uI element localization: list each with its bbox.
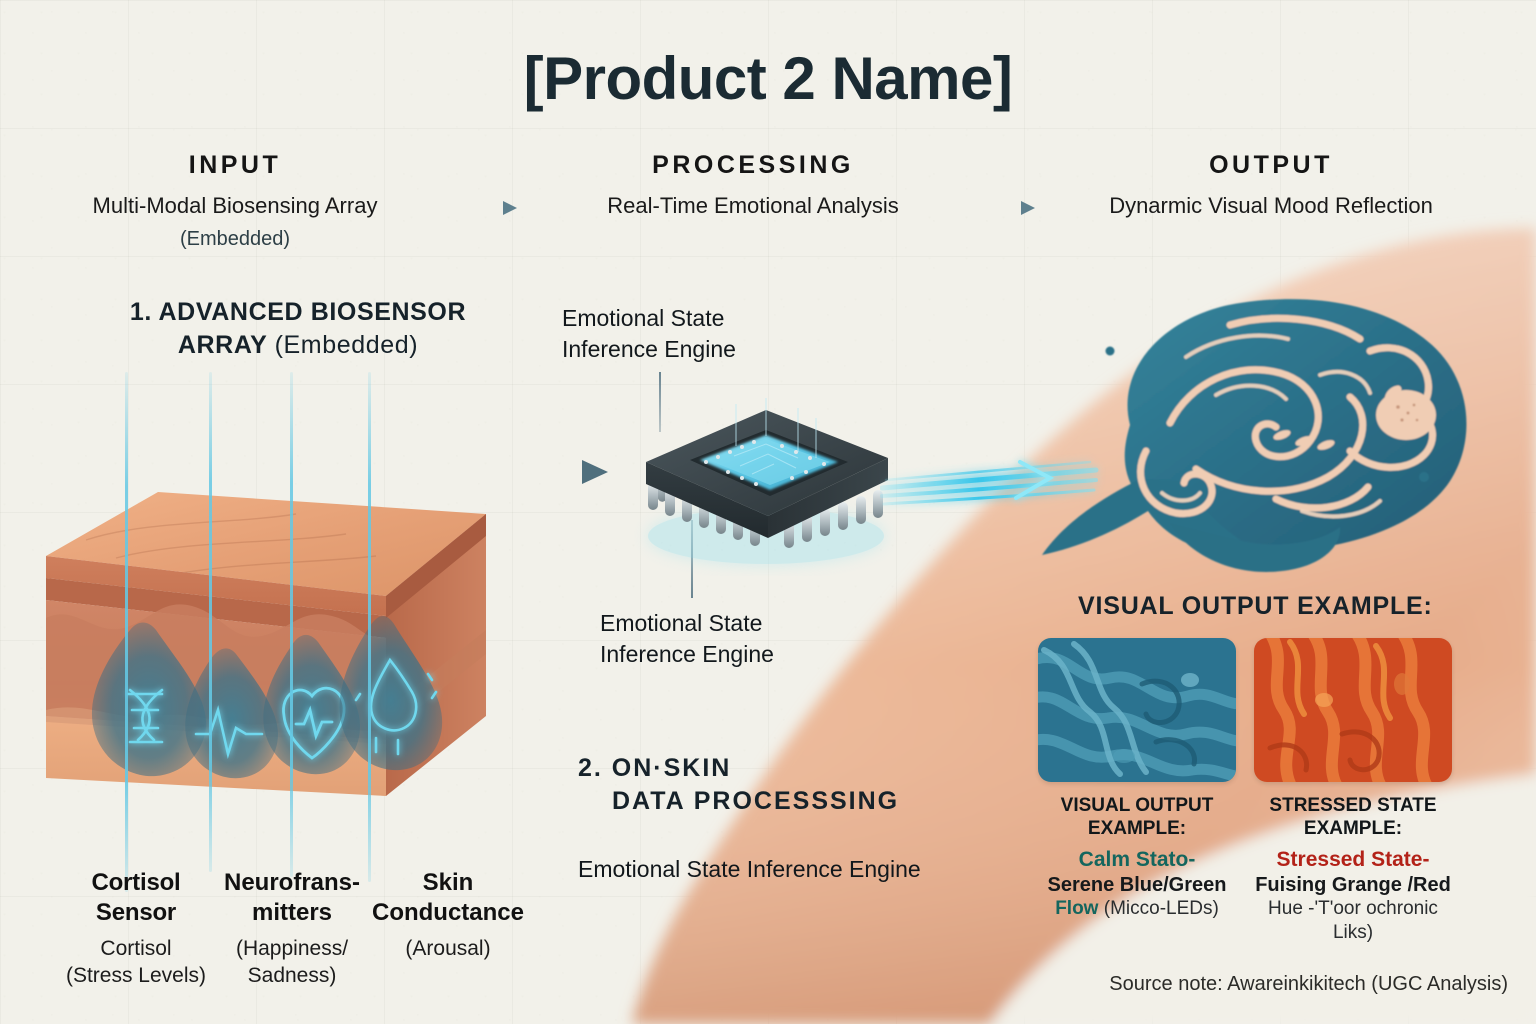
callout-inference-engine-bottom: Emotional State Inference Engine bbox=[600, 608, 774, 669]
stage-input-sub: (Embedded) bbox=[0, 226, 470, 253]
cortisol-name-line2: Sensor bbox=[96, 899, 176, 926]
stressed-cap-head-line2: EXAMPLE: bbox=[1304, 818, 1402, 839]
page-title: [Product 2 Name] bbox=[0, 44, 1536, 113]
swatch-calm: VISUAL OUTPUT EXAMPLE: Calm Stato- Seren… bbox=[1038, 638, 1236, 944]
processing-caption: Emotional State Inference Engine bbox=[578, 856, 921, 883]
neuro-desc-line1: (Happiness/ bbox=[236, 937, 348, 960]
infographic-canvas: [Product 2 Name] INPUT Multi-Modal Biose… bbox=[0, 0, 1536, 1024]
stressed-desc-label: Fuising Grange /Red bbox=[1254, 873, 1452, 897]
biosensor-heading-embedded: (Embedded) bbox=[275, 331, 419, 359]
calm-swatch-caption: VISUAL OUTPUT EXAMPLE: Calm Stato- Seren… bbox=[1038, 794, 1236, 921]
neuro-name-line2: mitters bbox=[252, 899, 332, 926]
sensor-probe-wire-2 bbox=[209, 372, 212, 872]
stage-input: INPUT Multi-Modal Biosensing Array (Embe… bbox=[0, 148, 470, 253]
calm-desc-label: Serene Blue/Green bbox=[1038, 873, 1236, 897]
sensor-label-cortisol: Cortisol Sensor Cortisol (Stress Levels) bbox=[58, 868, 214, 989]
flow-arrow-input-to-processing bbox=[462, 452, 612, 492]
biosensor-array-heading: 1. ADVANCED BIOSENSOR ARRAY (Embedded) bbox=[98, 296, 498, 362]
calm-cap-head-line1: VISUAL OUTPUT bbox=[1061, 795, 1214, 816]
calm-note: (Micco-LEDs) bbox=[1098, 898, 1218, 919]
callout-top-line2: Inference Engine bbox=[562, 336, 736, 362]
sensor-label-neurotransmitters: Neurofrans- mitters (Happiness/ Sadness) bbox=[214, 868, 370, 989]
stressed-state-label: Stressed State- bbox=[1254, 847, 1452, 873]
skin-desc-line1: (Arousal) bbox=[405, 937, 490, 960]
stage-processing-desc: Real-Time Emotional Analysis bbox=[518, 191, 988, 221]
sensor-label-row: Cortisol Sensor Cortisol (Stress Levels)… bbox=[58, 868, 526, 989]
cortisol-name-line1: Cortisol bbox=[91, 869, 180, 896]
arrow-right-icon bbox=[988, 196, 1036, 220]
stage-processing: PROCESSING Real-Time Emotional Analysis bbox=[518, 148, 988, 226]
processing-heading-line2: DATA PROCESSSING bbox=[578, 785, 978, 818]
calm-cap-head-line2: EXAMPLE: bbox=[1088, 818, 1186, 839]
callout-bottom-line2: Inference Engine bbox=[600, 641, 774, 667]
biosensor-heading-line1: 1. ADVANCED BIOSENSOR bbox=[130, 298, 466, 326]
calm-note-bold: Flow bbox=[1055, 898, 1098, 919]
callout-bottom-line1: Emotional State bbox=[600, 610, 762, 636]
calm-wave-swatch-icon bbox=[1038, 638, 1236, 782]
skin-cross-section-icon bbox=[46, 478, 486, 808]
stage-arrow-2 bbox=[988, 196, 1036, 220]
cortisol-desc-line2: (Stress Levels) bbox=[66, 964, 206, 987]
data-beam-arrow-icon bbox=[880, 448, 1130, 528]
neuro-desc-line2: Sadness) bbox=[248, 964, 337, 987]
stage-output: OUTPUT Dynarmic Visual Mood Reflection bbox=[1036, 148, 1506, 226]
stressed-note: Hue -'T'oor ochronic Liks) bbox=[1254, 897, 1452, 943]
stressed-swatch-caption: STRESSED STATE EXAMPLE: Stressed State- … bbox=[1254, 794, 1452, 944]
neuro-name-line1: Neurofrans- bbox=[224, 869, 360, 896]
stage-output-desc: Dynarmic Visual Mood Reflection bbox=[1036, 191, 1506, 221]
stressed-wave-swatch-icon bbox=[1254, 638, 1452, 782]
processing-heading-line1: 2. ON·SKIN bbox=[578, 754, 731, 782]
callout-top-line1: Emotional State bbox=[562, 305, 724, 331]
source-note: Source note: Awareinkikitech (UGC Analys… bbox=[1109, 973, 1508, 996]
stage-flow-header: INPUT Multi-Modal Biosensing Array (Embe… bbox=[0, 148, 1536, 253]
microchip-icon bbox=[616, 396, 916, 576]
stage-input-desc: Multi-Modal Biosensing Array bbox=[0, 191, 470, 221]
wave-swirl-tattoo-icon bbox=[1020, 255, 1490, 595]
stressed-cap-head-line1: STRESSED STATE bbox=[1269, 795, 1436, 816]
sensor-label-skin-conductance: Skin Conductance (Arousal) bbox=[370, 868, 526, 989]
sensor-probe-wire-1 bbox=[125, 372, 128, 892]
visual-output-swatches: VISUAL OUTPUT EXAMPLE: Calm Stato- Seren… bbox=[1038, 638, 1452, 944]
biosensor-heading-line2: ARRAY bbox=[178, 331, 267, 359]
sensor-probe-wire-3 bbox=[290, 372, 293, 877]
on-skin-processing-heading: 2. ON·SKIN DATA PROCESSSING bbox=[578, 752, 978, 818]
calm-state-label: Calm Stato- bbox=[1038, 847, 1236, 873]
cortisol-desc-line1: Cortisol bbox=[100, 937, 171, 960]
callout-inference-engine-top: Emotional State Inference Engine bbox=[562, 303, 736, 364]
skin-name-line1: Skin bbox=[423, 869, 474, 896]
stage-output-kicker: OUTPUT bbox=[1036, 148, 1506, 182]
stage-processing-kicker: PROCESSING bbox=[518, 148, 988, 182]
sensor-probe-wire-4 bbox=[368, 372, 371, 882]
stage-input-kicker: INPUT bbox=[0, 148, 470, 182]
swatch-stressed: STRESSED STATE EXAMPLE: Stressed State- … bbox=[1254, 638, 1452, 944]
stage-arrow-1 bbox=[470, 196, 518, 220]
skin-name-line2: Conductance bbox=[372, 899, 524, 926]
visual-output-heading: VISUAL OUTPUT EXAMPLE: bbox=[1078, 590, 1433, 623]
arrow-right-icon bbox=[470, 196, 518, 220]
